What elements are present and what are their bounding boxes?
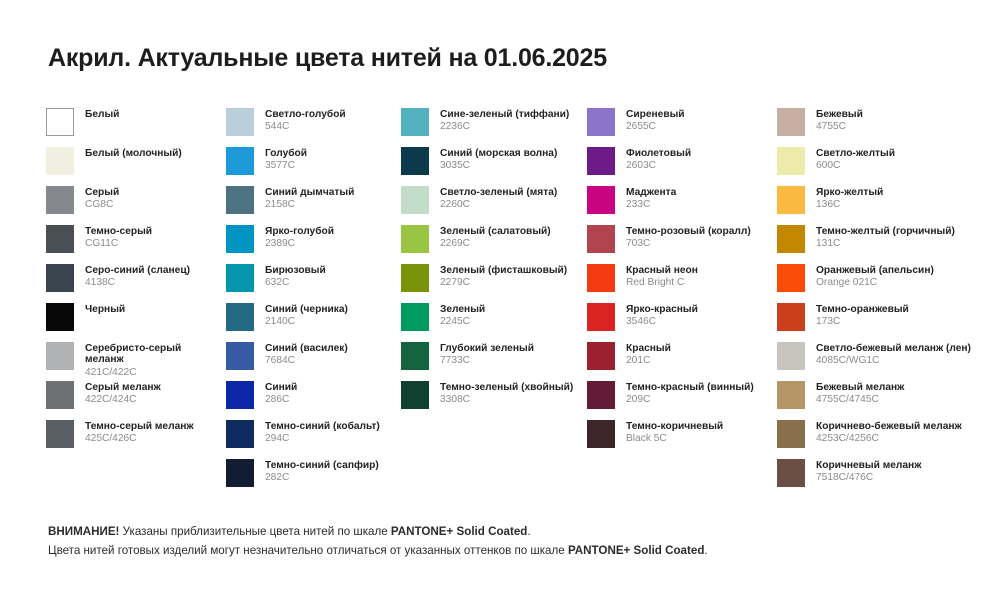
footer-note: ВНИМАНИЕ! Указаны приблизительные цвета … <box>48 523 968 561</box>
swatch-name: Ярко-голубой <box>265 226 334 237</box>
swatch-pantone-code: 282C <box>265 472 379 483</box>
swatch-pantone-code: 7684C <box>265 355 348 366</box>
swatch-pantone-code: Orange 021C <box>816 277 934 288</box>
swatch-row[interactable]: Глубокий зеленый7733C <box>401 342 587 381</box>
swatch-row[interactable]: Фиолетовый2603C <box>587 147 777 186</box>
swatch-row[interactable]: Синий286C <box>226 381 401 420</box>
swatch-text: Ярко-красный3546C <box>626 303 698 328</box>
color-swatch[interactable] <box>226 264 254 292</box>
swatch-row[interactable]: Светло-зеленый (мята)2260C <box>401 186 587 225</box>
color-swatch[interactable] <box>587 342 615 370</box>
swatch-column-col-blues: Светло-голубой544CГолубой3577CСиний дымч… <box>226 108 401 498</box>
color-swatch[interactable] <box>401 381 429 409</box>
swatch-pantone-code: 4138C <box>85 277 190 288</box>
swatch-name: Темно-оранжевый <box>816 304 909 315</box>
swatch-row[interactable]: Темно-коричневыйBlack 5C <box>587 420 777 459</box>
swatch-name: Красный неон <box>626 265 698 276</box>
swatch-text: Ярко-голубой2389C <box>265 225 334 250</box>
color-swatch[interactable] <box>777 303 805 331</box>
swatch-text: Светло-желтый600C <box>816 147 895 172</box>
color-swatch[interactable] <box>46 264 74 292</box>
swatch-name: Серебристо-серый меланж <box>85 343 197 366</box>
swatch-row[interactable]: Серебристо-серый меланж421C/422C <box>46 342 226 381</box>
swatch-name: Синий (черника) <box>265 304 348 315</box>
color-swatch[interactable] <box>46 147 74 175</box>
swatch-text: Светло-бежевый меланж (лен)4085C/WG1C <box>816 342 971 367</box>
swatch-name: Синий <box>265 382 297 393</box>
swatch-name: Синий (василек) <box>265 343 348 354</box>
swatch-text: Синий286C <box>265 381 297 406</box>
swatch-name: Сине-зеленый (тиффани) <box>440 109 569 120</box>
swatch-row[interactable]: Темно-синий (сапфир)282C <box>226 459 401 498</box>
footer-line-2: Цвета нитей готовых изделий могут незнач… <box>48 542 968 561</box>
swatch-name: Бежевый <box>816 109 863 120</box>
swatch-text: Белый (молочный) <box>85 147 182 159</box>
swatch-row[interactable]: Темно-серый меланж425C/426C <box>46 420 226 459</box>
swatch-text: Темно-коричневыйBlack 5C <box>626 420 723 445</box>
swatch-pantone-code: 2269C <box>440 238 551 249</box>
swatch-pantone-code: 4755C/4745C <box>816 394 904 405</box>
swatch-text: Коричневый меланж7518C/476C <box>816 459 921 484</box>
color-swatch[interactable] <box>401 108 429 136</box>
swatch-name: Светло-желтый <box>816 148 895 159</box>
swatch-pantone-code: 294C <box>265 433 380 444</box>
swatch-pantone-code: 2603C <box>626 160 691 171</box>
swatch-pantone-code: 3546C <box>626 316 698 327</box>
swatch-name: Белый (молочный) <box>85 148 182 159</box>
color-swatch[interactable] <box>777 420 805 448</box>
swatch-text: Темно-синий (сапфир)282C <box>265 459 379 484</box>
swatch-text: Темно-красный (винный)209C <box>626 381 754 406</box>
swatch-pantone-code: 3035C <box>440 160 557 171</box>
swatch-name: Светло-зеленый (мята) <box>440 187 557 198</box>
footer-line-2-text: Цвета нитей готовых изделий могут незнач… <box>48 544 568 557</box>
swatch-pantone-code: 7733C <box>440 355 534 366</box>
color-swatch[interactable] <box>587 264 615 292</box>
color-swatch[interactable] <box>777 186 805 214</box>
swatch-row[interactable]: Темно-желтый (горчичный)131C <box>777 225 992 264</box>
swatch-row[interactable]: Сине-зеленый (тиффани)2236C <box>401 108 587 147</box>
swatch-row[interactable]: Синий (морская волна)3035C <box>401 147 587 186</box>
swatch-name: Черный <box>85 304 125 315</box>
swatch-row[interactable]: Бежевый4755C <box>777 108 992 147</box>
swatch-text: Красный201C <box>626 342 671 367</box>
swatch-name: Коричневый меланж <box>816 460 921 471</box>
color-swatch[interactable] <box>226 147 254 175</box>
color-swatch[interactable] <box>777 108 805 136</box>
swatch-pantone-code: 136C <box>816 199 883 210</box>
swatch-row[interactable]: Белый (молочный) <box>46 147 226 186</box>
swatch-name: Фиолетовый <box>626 148 691 159</box>
swatch-row[interactable]: Серо-синий (сланец)4138C <box>46 264 226 303</box>
swatch-pantone-code: 209C <box>626 394 754 405</box>
swatch-text: Фиолетовый2603C <box>626 147 691 172</box>
color-swatch[interactable] <box>587 108 615 136</box>
color-swatch[interactable] <box>401 264 429 292</box>
swatch-text: Темно-оранжевый173C <box>816 303 909 328</box>
swatch-pantone-code: 2245C <box>440 316 485 327</box>
swatch-pantone-code: 2279C <box>440 277 567 288</box>
swatch-columns: БелыйБелый (молочный)СерыйCG8CТемно-серы… <box>46 108 996 498</box>
color-swatch[interactable] <box>46 342 74 370</box>
color-swatch[interactable] <box>46 303 74 331</box>
footer-line-1: ВНИМАНИЕ! Указаны приблизительные цвета … <box>48 523 968 542</box>
swatch-text: Коричнево-бежевый меланж4253C/4256C <box>816 420 962 445</box>
swatch-name: Светло-голубой <box>265 109 346 120</box>
swatch-row[interactable]: Темно-красный (винный)209C <box>587 381 777 420</box>
swatch-text: Зеленый (салатовый)2269C <box>440 225 551 250</box>
swatch-text: Синий (василек)7684C <box>265 342 348 367</box>
color-swatch[interactable] <box>46 225 74 253</box>
swatch-pantone-code: 425C/426C <box>85 433 194 444</box>
swatch-name: Темно-синий (сапфир) <box>265 460 379 471</box>
color-swatch[interactable] <box>226 459 254 487</box>
color-swatch[interactable] <box>587 186 615 214</box>
swatch-text: Белый <box>85 108 119 120</box>
swatch-row[interactable]: Светло-желтый600C <box>777 147 992 186</box>
swatch-row[interactable]: Синий дымчатый2158C <box>226 186 401 225</box>
swatch-text: Бежевый4755C <box>816 108 863 133</box>
swatch-pantone-code: 421C/422C <box>85 367 197 378</box>
color-swatch[interactable] <box>226 108 254 136</box>
swatch-row[interactable]: Светло-голубой544C <box>226 108 401 147</box>
swatch-pantone-code: 2260C <box>440 199 557 210</box>
swatch-name: Светло-бежевый меланж (лен) <box>816 343 971 354</box>
swatch-text: СерыйCG8C <box>85 186 119 211</box>
swatch-pantone-code: 4085C/WG1C <box>816 355 971 366</box>
swatch-row[interactable]: Белый <box>46 108 226 147</box>
swatch-name: Темно-красный (винный) <box>626 382 754 393</box>
swatch-text: Зеленый2245C <box>440 303 485 328</box>
swatch-row[interactable]: Темно-розовый (коралл)703C <box>587 225 777 264</box>
swatch-name: Темно-синий (кобальт) <box>265 421 380 432</box>
swatch-row[interactable]: Зеленый (фисташковый)2279C <box>401 264 587 303</box>
swatch-column-col-purples-reds: Сиреневый2655CФиолетовый2603CМаджента233… <box>587 108 777 459</box>
swatch-name: Зеленый (салатовый) <box>440 226 551 237</box>
swatch-name: Сиреневый <box>626 109 685 120</box>
swatch-text: Оранжевый (апельсин)Orange 021C <box>816 264 934 289</box>
swatch-row[interactable]: Зеленый (салатовый)2269C <box>401 225 587 264</box>
color-swatch[interactable] <box>777 459 805 487</box>
swatch-row[interactable]: СерыйCG8C <box>46 186 226 225</box>
swatch-text: Бежевый меланж4755C/4745C <box>816 381 904 406</box>
swatch-name: Темно-коричневый <box>626 421 723 432</box>
color-swatch[interactable] <box>777 381 805 409</box>
swatch-row[interactable]: Ярко-желтый136C <box>777 186 992 225</box>
swatch-text: Маджента233C <box>626 186 676 211</box>
swatch-text: Синий (черника)2140C <box>265 303 348 328</box>
swatch-text: Синий (морская волна)3035C <box>440 147 557 172</box>
swatch-column-col-greens: Сине-зеленый (тиффани)2236CСиний (морска… <box>401 108 587 420</box>
swatch-name: Зеленый (фисташковый) <box>440 265 567 276</box>
swatch-name: Темно-зеленый (хвойный) <box>440 382 573 393</box>
swatch-pantone-code: 4755C <box>816 121 863 132</box>
footer-brand-1: PANTONE+ Solid Coated <box>391 525 527 538</box>
swatch-pantone-code: 4253C/4256C <box>816 433 962 444</box>
swatch-name: Серый меланж <box>85 382 161 393</box>
color-swatch[interactable] <box>401 225 429 253</box>
swatch-row[interactable]: Темно-синий (кобальт)294C <box>226 420 401 459</box>
swatch-column-col-warm-neutrals: Бежевый4755CСветло-желтый600CЯрко-желтый… <box>777 108 992 498</box>
swatch-name: Синий дымчатый <box>265 187 354 198</box>
color-swatch[interactable] <box>587 303 615 331</box>
swatch-row[interactable]: Красный201C <box>587 342 777 381</box>
swatch-pantone-code: Red Bright C <box>626 277 698 288</box>
swatch-name: Маджента <box>626 187 676 198</box>
swatch-text: Темно-серый меланж425C/426C <box>85 420 194 445</box>
swatch-row[interactable]: Синий (василек)7684C <box>226 342 401 381</box>
swatch-pantone-code: 131C <box>816 238 955 249</box>
swatch-pantone-code: 2158C <box>265 199 354 210</box>
swatch-row[interactable]: Сиреневый2655C <box>587 108 777 147</box>
swatch-text: Темно-зеленый (хвойный)3308C <box>440 381 573 406</box>
swatch-pantone-code: 544C <box>265 121 346 132</box>
footer-attention-label: ВНИМАНИЕ! <box>48 525 119 538</box>
swatch-pantone-code: CG11C <box>85 238 152 249</box>
color-swatch[interactable] <box>226 225 254 253</box>
swatch-name: Ярко-красный <box>626 304 698 315</box>
swatch-row[interactable]: Бирюзовый632C <box>226 264 401 303</box>
swatch-text: Глубокий зеленый7733C <box>440 342 534 367</box>
footer-line-1-text: Указаны приблизительные цвета нитей по ш… <box>119 525 390 538</box>
swatch-text: Черный <box>85 303 125 315</box>
swatch-row[interactable]: Синий (черника)2140C <box>226 303 401 342</box>
swatch-text: Бирюзовый632C <box>265 264 326 289</box>
color-swatch[interactable] <box>46 186 74 214</box>
swatch-pantone-code: 7518C/476C <box>816 472 921 483</box>
swatch-text: Зеленый (фисташковый)2279C <box>440 264 567 289</box>
swatch-text: Серебристо-серый меланж421C/422C <box>85 342 197 378</box>
color-swatch[interactable] <box>777 264 805 292</box>
color-swatch[interactable] <box>401 147 429 175</box>
swatch-text: Серо-синий (сланец)4138C <box>85 264 190 289</box>
color-swatch[interactable] <box>226 303 254 331</box>
swatch-pantone-code: 632C <box>265 277 326 288</box>
swatch-name: Красный <box>626 343 671 354</box>
swatch-name: Коричнево-бежевый меланж <box>816 421 962 432</box>
swatch-name: Зеленый <box>440 304 485 315</box>
color-swatch[interactable] <box>401 186 429 214</box>
swatch-text: Светло-зеленый (мята)2260C <box>440 186 557 211</box>
swatch-pantone-code: 173C <box>816 316 909 327</box>
footer-line-2-end: . <box>704 544 707 557</box>
swatch-text: Темно-желтый (горчичный)131C <box>816 225 955 250</box>
swatch-name: Бежевый меланж <box>816 382 904 393</box>
swatch-row[interactable]: Темно-зеленый (хвойный)3308C <box>401 381 587 420</box>
swatch-name: Синий (морская волна) <box>440 148 557 159</box>
color-swatch[interactable] <box>226 381 254 409</box>
swatch-pantone-code: CG8C <box>85 199 119 210</box>
swatch-pantone-code: 600C <box>816 160 895 171</box>
swatch-pantone-code: 422C/424C <box>85 394 161 405</box>
swatch-pantone-code: 3308C <box>440 394 573 405</box>
swatch-row[interactable]: Темно-серыйCG11C <box>46 225 226 264</box>
swatch-pantone-code: Black 5C <box>626 433 723 444</box>
footer-brand-2: PANTONE+ Solid Coated <box>568 544 704 557</box>
footer-line-1-end: . <box>527 525 530 538</box>
swatch-row[interactable]: Коричневый меланж7518C/476C <box>777 459 992 498</box>
swatch-name: Темно-розовый (коралл) <box>626 226 751 237</box>
swatch-row[interactable]: Красный неонRed Bright C <box>587 264 777 303</box>
swatch-name: Темно-желтый (горчичный) <box>816 226 955 237</box>
swatch-name: Оранжевый (апельсин) <box>816 265 934 276</box>
color-chart-page: Акрил. Актуальные цвета нитей на 01.06.2… <box>0 0 1000 609</box>
color-swatch[interactable] <box>587 420 615 448</box>
swatch-name: Темно-серый <box>85 226 152 237</box>
swatch-row[interactable]: Голубой3577C <box>226 147 401 186</box>
swatch-text: Синий дымчатый2158C <box>265 186 354 211</box>
swatch-row[interactable]: Светло-бежевый меланж (лен)4085C/WG1C <box>777 342 992 381</box>
swatch-pantone-code: 233C <box>626 199 676 210</box>
swatch-name: Серо-синий (сланец) <box>85 265 190 276</box>
color-swatch[interactable] <box>777 147 805 175</box>
swatch-row[interactable]: Черный <box>46 303 226 342</box>
swatch-pantone-code: 2655C <box>626 121 685 132</box>
swatch-name: Бирюзовый <box>265 265 326 276</box>
color-swatch[interactable] <box>46 381 74 409</box>
swatch-text: Темно-розовый (коралл)703C <box>626 225 751 250</box>
color-swatch[interactable] <box>46 108 74 136</box>
swatch-row[interactable]: Маджента233C <box>587 186 777 225</box>
swatch-text: Серый меланж422C/424C <box>85 381 161 406</box>
color-swatch[interactable] <box>587 225 615 253</box>
swatch-name: Голубой <box>265 148 307 159</box>
swatch-name: Глубокий зеленый <box>440 343 534 354</box>
color-swatch[interactable] <box>401 303 429 331</box>
swatch-pantone-code: 286C <box>265 394 297 405</box>
swatch-row[interactable]: Оранжевый (апельсин)Orange 021C <box>777 264 992 303</box>
swatch-row[interactable]: Темно-оранжевый173C <box>777 303 992 342</box>
color-swatch[interactable] <box>226 186 254 214</box>
swatch-pantone-code: 2140C <box>265 316 348 327</box>
color-swatch[interactable] <box>587 381 615 409</box>
swatch-text: Сиреневый2655C <box>626 108 685 133</box>
swatch-column-col-greys: БелыйБелый (молочный)СерыйCG8CТемно-серы… <box>46 108 226 459</box>
swatch-name: Белый <box>85 109 119 120</box>
swatch-row[interactable]: Зеленый2245C <box>401 303 587 342</box>
color-swatch[interactable] <box>777 342 805 370</box>
color-swatch[interactable] <box>226 342 254 370</box>
color-swatch[interactable] <box>46 420 74 448</box>
swatch-name: Серый <box>85 187 119 198</box>
swatch-row[interactable]: Бежевый меланж4755C/4745C <box>777 381 992 420</box>
swatch-text: Голубой3577C <box>265 147 307 172</box>
swatch-name: Темно-серый меланж <box>85 421 194 432</box>
swatch-row[interactable]: Серый меланж422C/424C <box>46 381 226 420</box>
swatch-text: Сине-зеленый (тиффани)2236C <box>440 108 569 133</box>
swatch-pantone-code: 2236C <box>440 121 569 132</box>
color-swatch[interactable] <box>777 225 805 253</box>
color-swatch[interactable] <box>401 342 429 370</box>
swatch-name: Ярко-желтый <box>816 187 883 198</box>
page-title: Акрил. Актуальные цвета нитей на 01.06.2… <box>48 44 607 73</box>
swatch-pantone-code: 201C <box>626 355 671 366</box>
swatch-pantone-code: 2389C <box>265 238 334 249</box>
swatch-text: Светло-голубой544C <box>265 108 346 133</box>
swatch-row[interactable]: Ярко-голубой2389C <box>226 225 401 264</box>
swatch-pantone-code: 703C <box>626 238 751 249</box>
color-swatch[interactable] <box>587 147 615 175</box>
swatch-text: Темно-синий (кобальт)294C <box>265 420 380 445</box>
swatch-text: Ярко-желтый136C <box>816 186 883 211</box>
swatch-text: Красный неонRed Bright C <box>626 264 698 289</box>
swatch-text: Темно-серыйCG11C <box>85 225 152 250</box>
swatch-row[interactable]: Коричнево-бежевый меланж4253C/4256C <box>777 420 992 459</box>
swatch-row[interactable]: Ярко-красный3546C <box>587 303 777 342</box>
swatch-pantone-code: 3577C <box>265 160 307 171</box>
color-swatch[interactable] <box>226 420 254 448</box>
